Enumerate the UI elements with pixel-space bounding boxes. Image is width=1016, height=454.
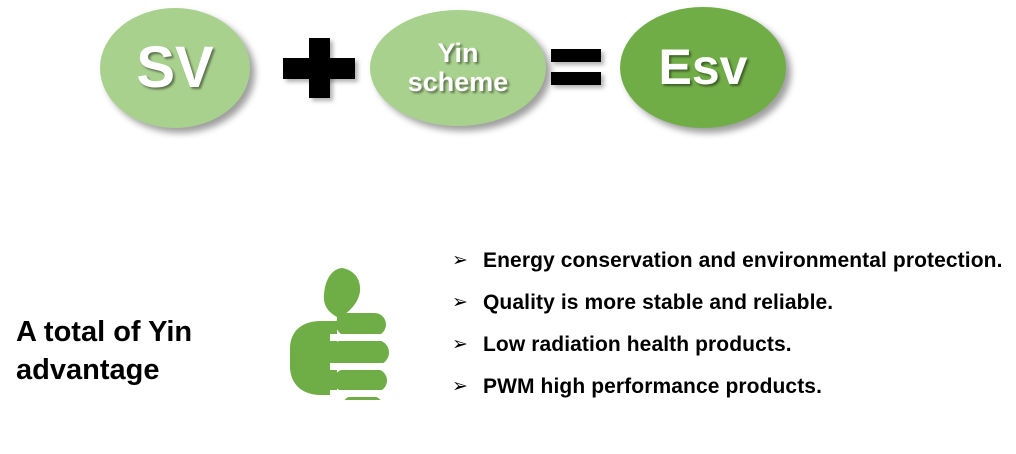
advantages-section: A total of Yin advantage ➢ Energy conser… <box>0 240 1016 454</box>
finger-separator-2 <box>330 363 390 370</box>
bullet-arrow-icon: ➢ <box>452 324 468 366</box>
list-item-text: Quality is more stable and reliable. <box>483 291 833 314</box>
slide-canvas: SV Yin scheme Esv A total of Yin advanta… <box>0 0 1016 454</box>
equals-sign-icon <box>551 49 601 85</box>
finger-separator-3 <box>330 390 390 397</box>
bullet-arrow-icon: ➢ <box>452 282 468 324</box>
plus-vertical-bar <box>309 38 330 98</box>
equation-term-yin-scheme: Yin scheme <box>370 10 546 126</box>
yin-scheme-line-2: scheme <box>408 67 509 97</box>
equation-term-yin-scheme-label: Yin scheme <box>402 39 515 96</box>
equals-top-bar <box>551 49 601 62</box>
list-item: ➢ Energy conservation and environmental … <box>452 240 1012 282</box>
equation-term-esv: Esv <box>620 7 786 128</box>
bullet-arrow-icon: ➢ <box>452 366 468 408</box>
list-item-text: Energy conservation and environmental pr… <box>483 249 1003 272</box>
plus-sign-icon <box>283 38 355 98</box>
equation-row: SV Yin scheme Esv <box>0 0 1016 140</box>
yin-scheme-line-1: Yin <box>437 38 478 68</box>
advantages-heading: A total of Yin advantage <box>16 313 266 390</box>
finger-separator-1 <box>330 334 390 341</box>
equation-term-sv-label: SV <box>130 37 219 98</box>
list-item-text: PWM high performance products. <box>483 375 822 398</box>
list-item-text: Low radiation health products. <box>483 333 792 356</box>
advantages-list: ➢ Energy conservation and environmental … <box>452 240 1012 408</box>
list-item: ➢ Low radiation health products. <box>452 324 1012 366</box>
list-item: ➢ Quality is more stable and reliable. <box>452 282 1012 324</box>
bullet-arrow-icon: ➢ <box>452 240 468 282</box>
list-item: ➢ PWM high performance products. <box>452 366 1012 408</box>
finger-bar-1 <box>336 313 386 336</box>
equation-term-sv: SV <box>100 8 250 128</box>
equals-bottom-bar <box>551 72 601 85</box>
finger-bar-2 <box>331 340 389 365</box>
finger-bar-3 <box>334 369 387 392</box>
equation-term-esv-label: Esv <box>653 41 754 94</box>
thumbs-up-icon <box>280 265 390 400</box>
